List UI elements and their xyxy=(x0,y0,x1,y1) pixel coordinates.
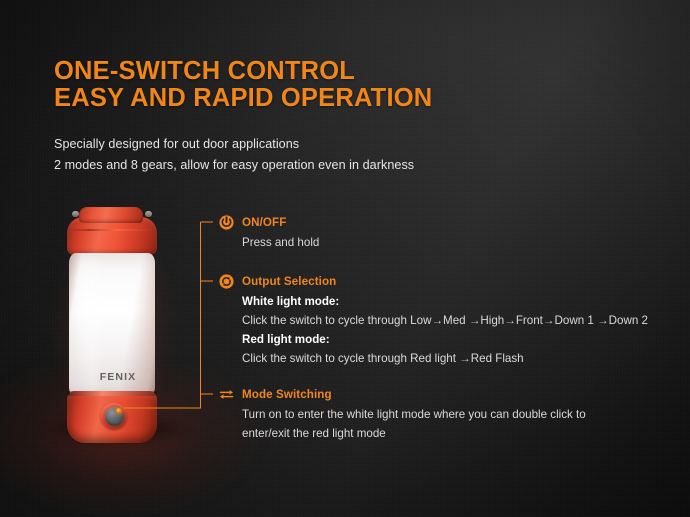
annotation-body: White light mode: Click the switch to cy… xyxy=(242,292,648,368)
annotation-text-red: Click the switch to cycle through Red li… xyxy=(242,349,648,368)
annotation-subhead-red: Red light mode: xyxy=(242,330,648,349)
annotation-text-white: Click the switch to cycle through Low→Me… xyxy=(242,311,648,330)
annotation-mode-switching: Mode Switching Turn on to enter the whit… xyxy=(218,386,594,443)
annotation-title: ON/OFF xyxy=(242,216,286,229)
annotation-output-selection: Output Selection White light mode: Click… xyxy=(218,273,648,368)
annotation-text: Turn on to enter the white light mode wh… xyxy=(242,405,594,443)
annotation-header: ON/OFF xyxy=(218,214,319,230)
annotation-text: Press and hold xyxy=(242,233,319,252)
annotation-on-off: ON/OFF Press and hold xyxy=(218,214,319,252)
annotation-header: Mode Switching xyxy=(218,386,594,402)
annotation-body: Turn on to enter the white light mode wh… xyxy=(242,405,594,443)
infographic-page: ONE-SWITCH CONTROL EASY AND RAPID OPERAT… xyxy=(0,0,690,517)
annotation-title: Mode Switching xyxy=(242,388,332,401)
power-icon xyxy=(218,214,235,231)
cycle-arrows-icon xyxy=(218,273,235,290)
annotation-header: Output Selection xyxy=(218,273,648,289)
annotation-title: Output Selection xyxy=(242,275,336,288)
swap-arrows-icon xyxy=(218,386,235,403)
annotation-body: Press and hold xyxy=(242,233,319,252)
connector-lead-from-switch xyxy=(124,394,201,408)
annotation-subhead-white: White light mode: xyxy=(242,292,648,311)
